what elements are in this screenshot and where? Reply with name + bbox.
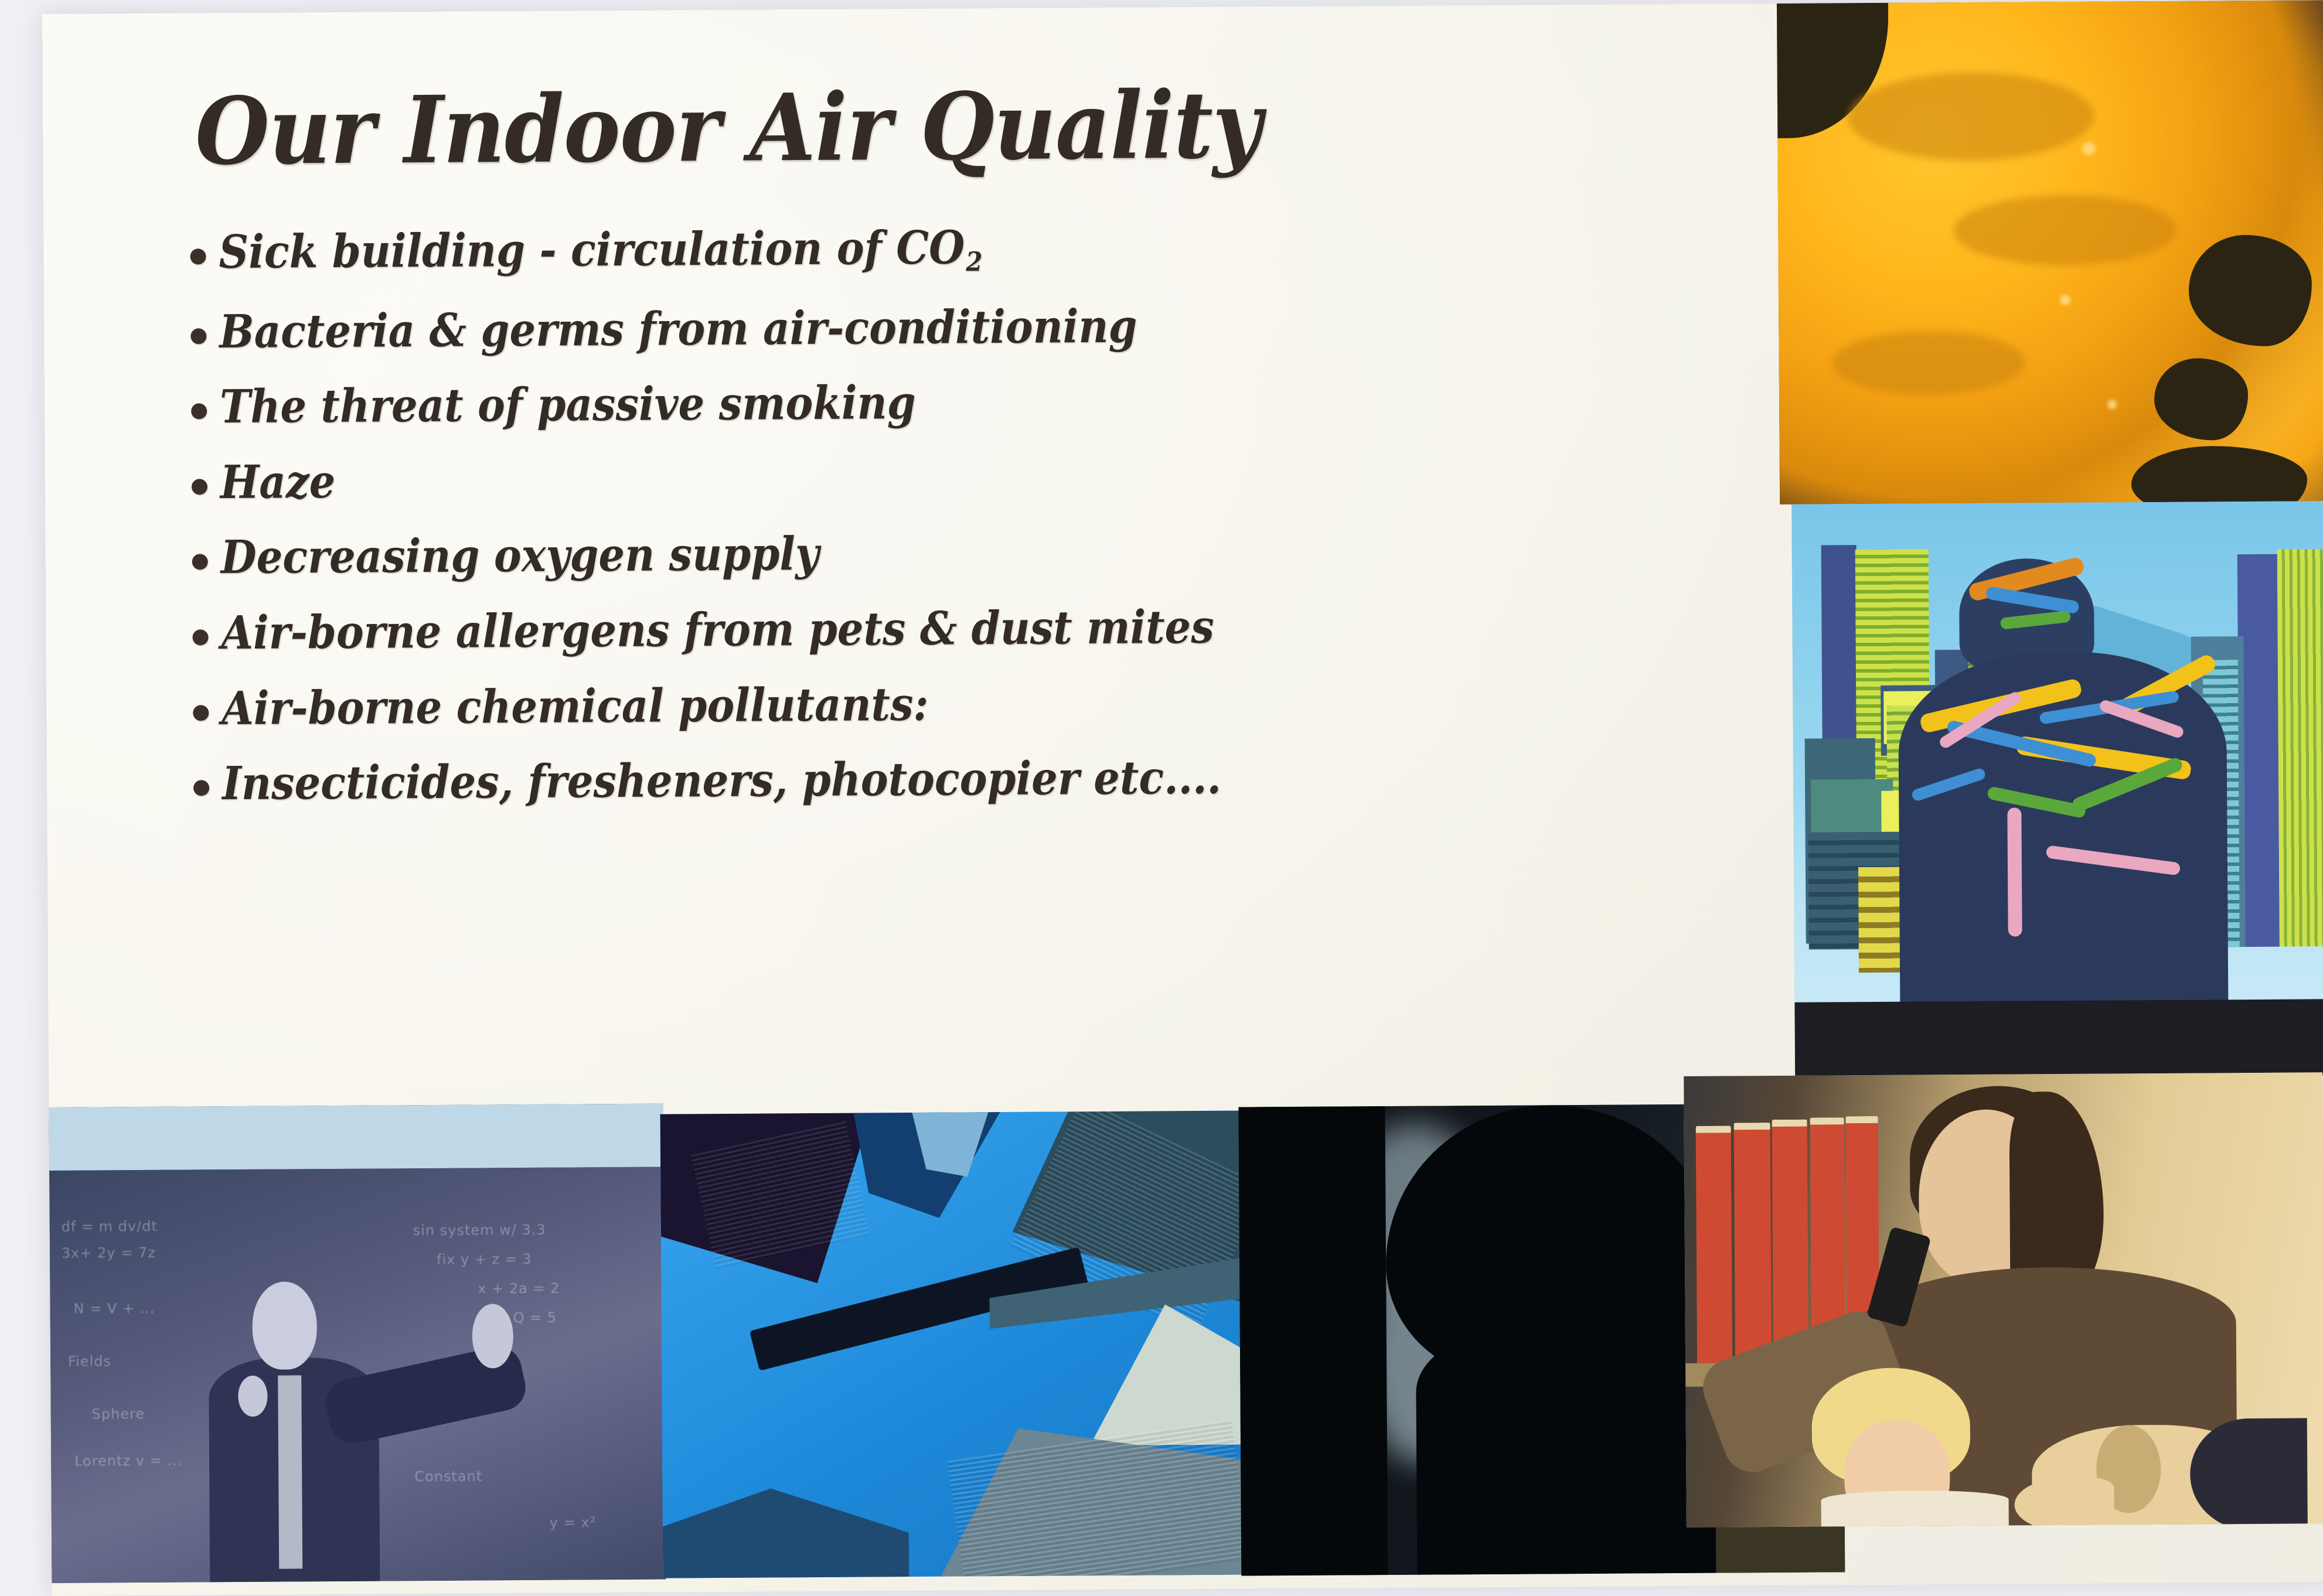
blackboard-top-band (49, 1104, 663, 1171)
list-item-label: Sick building - circulation of CO2 (219, 224, 982, 280)
bullet-dot-icon (190, 248, 206, 264)
chalk-writing: sin system w/ 3.3 (413, 1222, 546, 1239)
chalk-writing: y = x² (550, 1514, 597, 1530)
chalk-writing: Sphere (92, 1406, 145, 1423)
list-item-decreasing-oxygen: Decreasing oxygen supply (192, 525, 1780, 581)
bullet-dot-icon (193, 780, 209, 796)
professor-head (252, 1281, 317, 1370)
list-item-passive-smoking: The threat of passive smoking (191, 374, 1779, 431)
bullet-dot-icon (190, 328, 206, 344)
chalk-writing: Fields (68, 1353, 111, 1369)
dog-muzzle (2014, 1478, 2114, 1527)
image-blackboard: df = m dv/dt 3x+ 2y = 7z N = V + ... Fie… (49, 1104, 666, 1583)
list-item-label: Air-borne allergens from pets & dust mit… (221, 604, 1214, 657)
bullet-dot-icon (192, 554, 208, 570)
text-content-column: Our Indoor Air Quality Sick building - c… (148, 27, 1783, 1092)
list-item-haze: Haze (192, 450, 1780, 506)
list-item-label: The threat of passive smoking (220, 380, 916, 431)
image-micrograph (1777, 0, 2323, 504)
bullet-dot-icon (192, 479, 207, 495)
binder (1696, 1126, 1733, 1367)
cityman-foreground (1794, 999, 2323, 1079)
micrograph-highlight (2060, 295, 2070, 305)
chalk-writing: fix y + z = 3 (437, 1251, 532, 1268)
list-item-label: Decreasing oxygen supply (220, 531, 819, 581)
micrograph-highlight (2107, 400, 2117, 409)
image-skyscrapers (660, 1111, 1243, 1578)
chalk-writing: df = m dv/dt (62, 1218, 158, 1235)
page-title: Our Indoor Air Quality (195, 69, 1651, 186)
professor-hand (238, 1376, 267, 1417)
list-item-bacteria-germs: Bacteria & germs from air-conditioning (190, 299, 1779, 356)
list-item-allergens: Air-borne allergens from pets & dust mit… (192, 601, 1780, 657)
chalk-writing: Q = 5 (513, 1309, 557, 1326)
bullet-dot-icon (193, 705, 209, 721)
chalk-writing: x + 2a = 2 (478, 1280, 560, 1297)
chalk-writing: 3x+ 2y = 7z (62, 1244, 156, 1261)
binder (1734, 1123, 1772, 1367)
list-item-chemical-pollutants: Air-borne chemical pollutants: (193, 676, 1781, 732)
list-item-label: Haze (220, 459, 336, 506)
poster-page: Our Indoor Air Quality Sick building - c… (42, 0, 2323, 1596)
list-item-label: Insecticides, fresheners, photocopier et… (222, 755, 1221, 807)
list-item-sick-building: Sick building - circulation of CO2 (190, 220, 1778, 280)
smoker-dark-edge (1238, 1106, 1388, 1576)
cityman-building (2277, 549, 2323, 947)
cityman-torso (1898, 651, 2229, 1016)
smoker-hand-silhouette (1446, 1421, 1564, 1574)
chalk-writing: Constant (414, 1468, 482, 1485)
list-item-label: Bacteria & germs from air-conditioning (219, 303, 1137, 355)
image-family (1684, 1072, 2323, 1527)
professor-hand (472, 1304, 513, 1368)
professor-shirt (278, 1375, 302, 1568)
dog-collar (2190, 1418, 2308, 1527)
subscript: 2 (965, 246, 982, 277)
micrograph-highlight (2082, 142, 2095, 155)
bullet-dot-icon (192, 629, 208, 645)
bullet-dot-icon (191, 404, 207, 420)
image-cityman (1791, 501, 2323, 1079)
chalk-writing: Lorentz v = ... (74, 1452, 182, 1469)
child-body (1821, 1491, 2008, 1527)
list-item-insecticides: Insecticides, fresheners, photocopier et… (193, 751, 1782, 807)
bullet-list: Sick building - circulation of CO2 Bacte… (190, 220, 1782, 807)
list-item-label: Air-borne chemical pollutants: (222, 681, 929, 732)
chalk-writing: N = V + ... (73, 1300, 155, 1317)
cityman-arrow-pink (2007, 807, 2022, 936)
